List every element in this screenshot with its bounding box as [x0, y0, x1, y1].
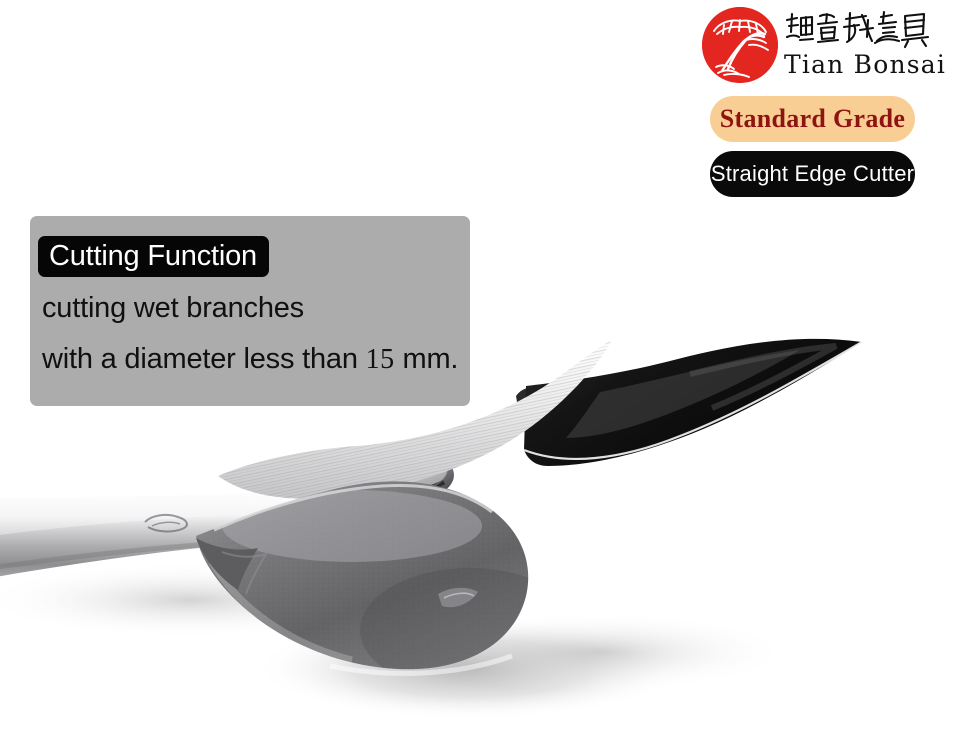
brand-wordmark: Tian Bonsai	[784, 4, 932, 86]
product-type-badge: Straight Edge Cutter	[710, 151, 915, 197]
brand-latin-name: Tian Bonsai	[784, 50, 932, 80]
cutter-upper-blade	[180, 330, 862, 520]
brand-block: Tian Bonsai	[700, 4, 930, 86]
product-photo-cutter	[0, 300, 960, 755]
cutting-function-heading: Cutting Function	[38, 236, 269, 277]
bonsai-tree-roundel-icon	[702, 7, 778, 83]
grade-badge: Standard Grade	[710, 96, 915, 142]
product-marketing-image: Tian Bonsai Standard Grade Straight Edge…	[0, 0, 960, 755]
brand-cjk-name	[784, 10, 932, 50]
